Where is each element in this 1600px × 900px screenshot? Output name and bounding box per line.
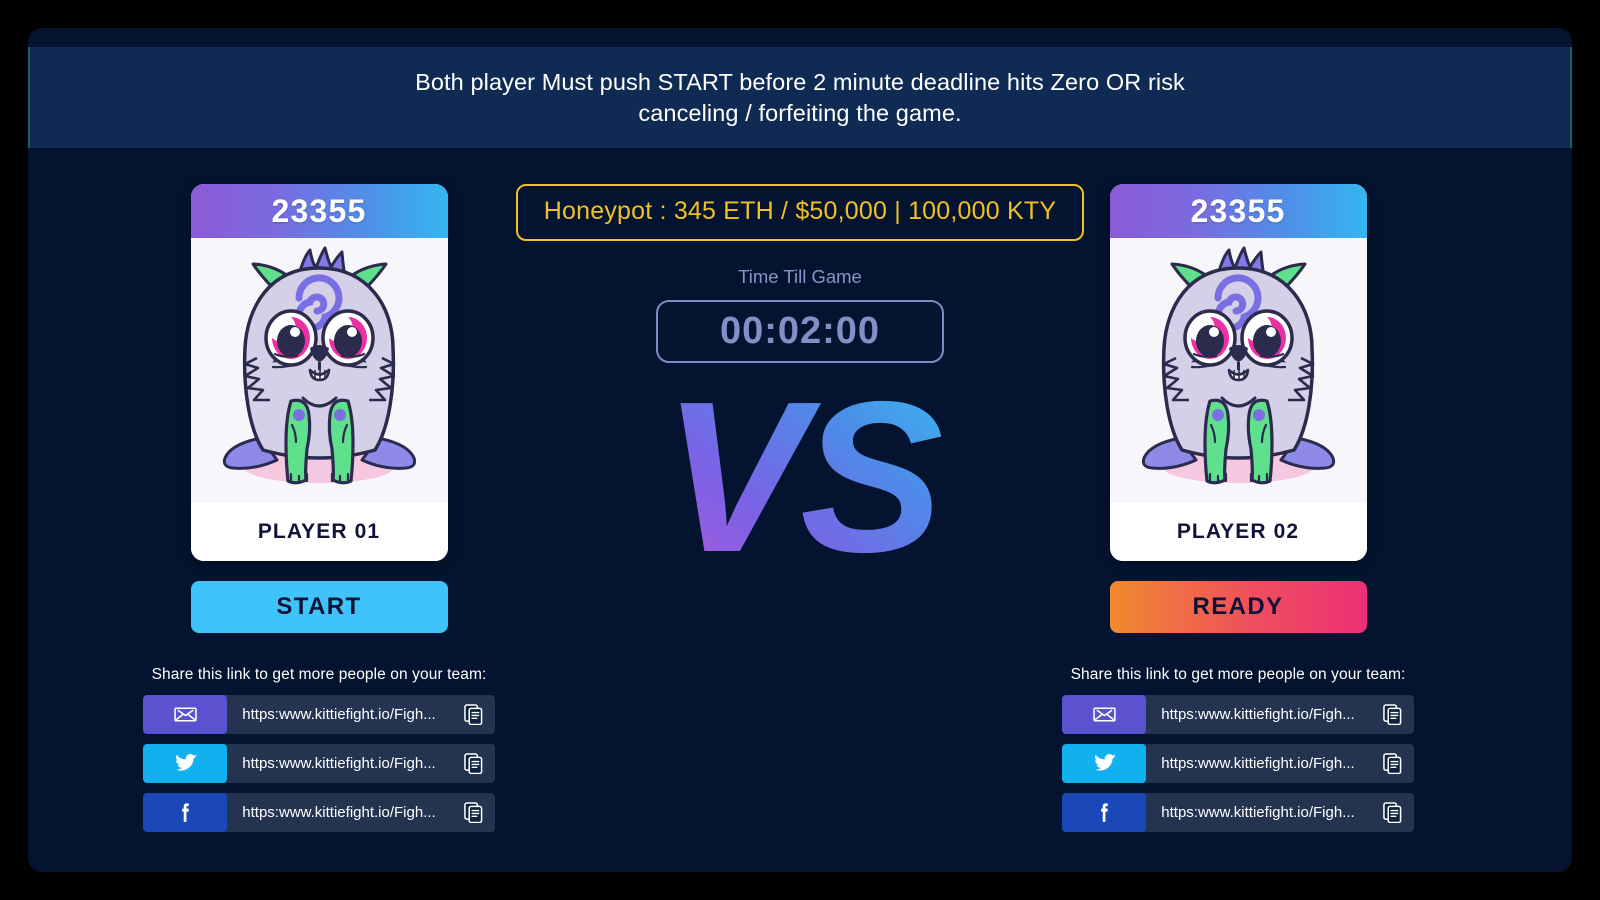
copy-icon[interactable] xyxy=(451,793,495,832)
copy-icon[interactable] xyxy=(1370,744,1414,783)
email-icon[interactable] xyxy=(143,695,227,734)
share-row-twitter-1[interactable]: https:www.kittiefight.io/Figh... xyxy=(143,744,495,783)
facebook-icon[interactable] xyxy=(1062,793,1146,832)
share-row-facebook-2[interactable]: https:www.kittiefight.io/Figh... xyxy=(1062,793,1414,832)
share-links-1: https:www.kittiefight.io/Figh... https:w… xyxy=(143,695,495,832)
kitty-card-1[interactable]: 23355 xyxy=(191,184,448,561)
copy-icon[interactable] xyxy=(1370,793,1414,832)
player-name-1: PLAYER 01 xyxy=(258,520,380,544)
kitty-id-2: 23355 xyxy=(1191,193,1286,230)
copy-icon[interactable] xyxy=(451,695,495,734)
player-panel-1: 23355 xyxy=(143,184,495,842)
start-button[interactable]: START xyxy=(191,581,448,633)
share-url-twitter-1: https:www.kittiefight.io/Figh... xyxy=(227,744,451,783)
notice-text: Both player Must push START before 2 min… xyxy=(415,67,1185,129)
kitty-card-header-2: 23355 xyxy=(1110,184,1367,238)
svg-text:VS: VS xyxy=(663,379,942,579)
share-row-email-1[interactable]: https:www.kittiefight.io/Figh... xyxy=(143,695,495,734)
share-url-facebook-1: https:www.kittiefight.io/Figh... xyxy=(227,793,451,832)
twitter-icon[interactable] xyxy=(1062,744,1146,783)
countdown-timer: 00:02:00 xyxy=(656,300,944,363)
share-row-facebook-1[interactable]: https:www.kittiefight.io/Figh... xyxy=(143,793,495,832)
share-label-1: Share this link to get more people on yo… xyxy=(143,666,495,684)
kitty-id-1: 23355 xyxy=(272,193,367,230)
facebook-icon[interactable] xyxy=(143,793,227,832)
deadline-notice-banner: Both player Must push START before 2 min… xyxy=(28,47,1572,148)
kitty-illustration-2 xyxy=(1110,238,1367,503)
notice-line-2: canceling / forfeiting the game. xyxy=(638,100,961,126)
share-row-twitter-2[interactable]: https:www.kittiefight.io/Figh... xyxy=(1062,744,1414,783)
copy-icon[interactable] xyxy=(1370,695,1414,734)
kitty-card-2[interactable]: 23355 xyxy=(1110,184,1367,561)
center-panel: Honeypot : 345 ETH / $50,000 | 100,000 K… xyxy=(490,184,1110,579)
ready-button[interactable]: READY xyxy=(1110,581,1367,633)
share-url-twitter-2: https:www.kittiefight.io/Figh... xyxy=(1146,744,1370,783)
kitty-card-header-1: 23355 xyxy=(191,184,448,238)
game-screen: Both player Must push START before 2 min… xyxy=(28,28,1572,872)
copy-icon[interactable] xyxy=(451,744,495,783)
share-url-email-1: https:www.kittiefight.io/Figh... xyxy=(227,695,451,734)
share-row-email-2[interactable]: https:www.kittiefight.io/Figh... xyxy=(1062,695,1414,734)
share-url-facebook-2: https:www.kittiefight.io/Figh... xyxy=(1146,793,1370,832)
timer-value: 00:02:00 xyxy=(720,310,880,353)
timer-label: Time Till Game xyxy=(490,266,1110,288)
player-panel-2: 23355 xyxy=(1062,184,1414,842)
kitty-card-footer-2: PLAYER 02 xyxy=(1110,503,1367,561)
share-links-2: https:www.kittiefight.io/Figh... https:w… xyxy=(1062,695,1414,832)
versus-graphic: VS xyxy=(490,379,1110,579)
share-label-2: Share this link to get more people on yo… xyxy=(1062,666,1414,684)
email-icon[interactable] xyxy=(1062,695,1146,734)
kitty-card-footer-1: PLAYER 01 xyxy=(191,503,448,561)
kitty-illustration-1 xyxy=(191,238,448,503)
share-url-email-2: https:www.kittiefight.io/Figh... xyxy=(1146,695,1370,734)
honeypot-banner: Honeypot : 345 ETH / $50,000 | 100,000 K… xyxy=(516,184,1084,241)
player-name-2: PLAYER 02 xyxy=(1177,520,1299,544)
twitter-icon[interactable] xyxy=(143,744,227,783)
notice-line-1: Both player Must push START before 2 min… xyxy=(415,69,1185,95)
